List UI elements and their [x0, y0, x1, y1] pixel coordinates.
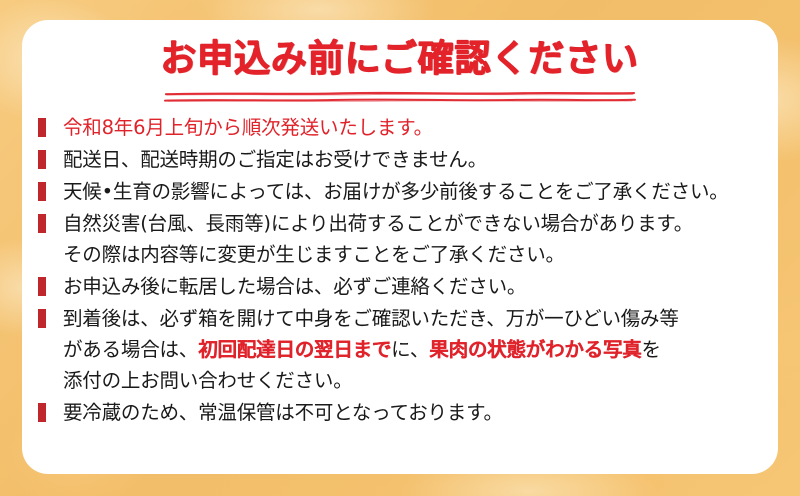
notice-text: その際は内容等に変更が生じますことをご了承ください。	[63, 243, 565, 266]
notice-item-refrigeration-required: 要冷蔵のため、常温保管は不可となっております。	[35, 397, 775, 428]
bullet-square-icon	[38, 150, 46, 169]
notice-text: お申込み後に転居した場合は、必ずご連絡ください。	[63, 275, 526, 298]
bullet-square-icon	[38, 118, 46, 137]
notice-text: 要冷蔵のため、常温保管は不可となっております。	[63, 401, 503, 424]
notice-line: 令和8年6月上旬から順次発送いたします。	[63, 112, 775, 143]
notice-line: がある場合は、初回配達日の翌日までに、果肉の状態がわかる写真を	[63, 334, 775, 365]
notice-line: 添付の上お問い合わせください。	[63, 365, 775, 396]
notice-text: 令和8年6月上旬から順次発送いたします。	[63, 116, 433, 139]
notice-text: を	[641, 338, 660, 361]
notice-item-weather-growth-delay: 天候•生育の影響によっては、お届けが多少前後することをご了承ください。	[35, 176, 775, 207]
emphasis-text: 果肉の状態がわかる写真	[429, 338, 641, 361]
notice-item-no-date-designation: 配送日、配送時期のご指定はお受けできません。	[35, 144, 775, 175]
notice-page: お申込み前にご確認ください 令和8年6月上旬から順次発送いたします。配送日、配送…	[0, 0, 800, 496]
bullet-square-icon	[38, 309, 46, 328]
notice-line: 配送日、配送時期のご指定はお受けできません。	[63, 144, 775, 175]
notice-line: 自然災害(台風、長雨等)により出荷することができない場合があります。	[63, 208, 775, 239]
notice-text: がある場合は、	[63, 338, 198, 361]
notice-line: 天候•生育の影響によっては、お届けが多少前後することをご了承ください。	[63, 176, 775, 207]
notice-text: に、	[391, 338, 429, 361]
notice-text: 自然災害(台風、長雨等)により出荷することができない場合があります。	[63, 212, 693, 235]
notice-text: 配送日、配送時期のご指定はお受けできません。	[63, 148, 487, 171]
notice-item-natural-disaster: 自然災害(台風、長雨等)により出荷することができない場合があります。その際は内容…	[35, 208, 775, 270]
notice-text: 添付の上お問い合わせください。	[63, 369, 353, 392]
notice-item-shipping-schedule: 令和8年6月上旬から順次発送いたします。	[35, 112, 775, 143]
notice-line: その際は内容等に変更が生じますことをご了承ください。	[63, 239, 775, 270]
notice-list: 令和8年6月上旬から順次発送いたします。配送日、配送時期のご指定はお受けできませ…	[35, 112, 775, 429]
white-notice-card: お申込み前にご確認ください 令和8年6月上旬から順次発送いたします。配送日、配送…	[22, 20, 778, 474]
notice-line: お申込み後に転居した場合は、必ずご連絡ください。	[63, 271, 775, 302]
bullet-square-icon	[38, 277, 46, 296]
title-block: お申込み前にご確認ください	[22, 36, 778, 82]
notice-text: 天候•生育の影響によっては、お届けが多少前後することをご了承ください。	[63, 180, 729, 203]
notice-item-moving-notification: お申込み後に転居した場合は、必ずご連絡ください。	[35, 271, 775, 302]
bullet-square-icon	[38, 182, 46, 201]
emphasis-text: 初回配達日の翌日まで	[198, 338, 391, 361]
bullet-square-icon	[38, 403, 46, 422]
notice-line: 要冷蔵のため、常温保管は不可となっております。	[63, 397, 775, 428]
bullet-square-icon	[38, 214, 46, 233]
notice-item-damage-report: 到着後は、必ず箱を開けて中身をご確認いただき、万が一ひどい傷み等がある場合は、初…	[35, 303, 775, 396]
notice-line: 到着後は、必ず箱を開けて中身をご確認いただき、万が一ひどい傷み等	[63, 303, 775, 334]
title-underline-icon	[164, 90, 636, 104]
page-title: お申込み前にご確認ください	[161, 36, 639, 82]
notice-text: 到着後は、必ず箱を開けて中身をご確認いただき、万が一ひどい傷み等	[63, 307, 679, 330]
